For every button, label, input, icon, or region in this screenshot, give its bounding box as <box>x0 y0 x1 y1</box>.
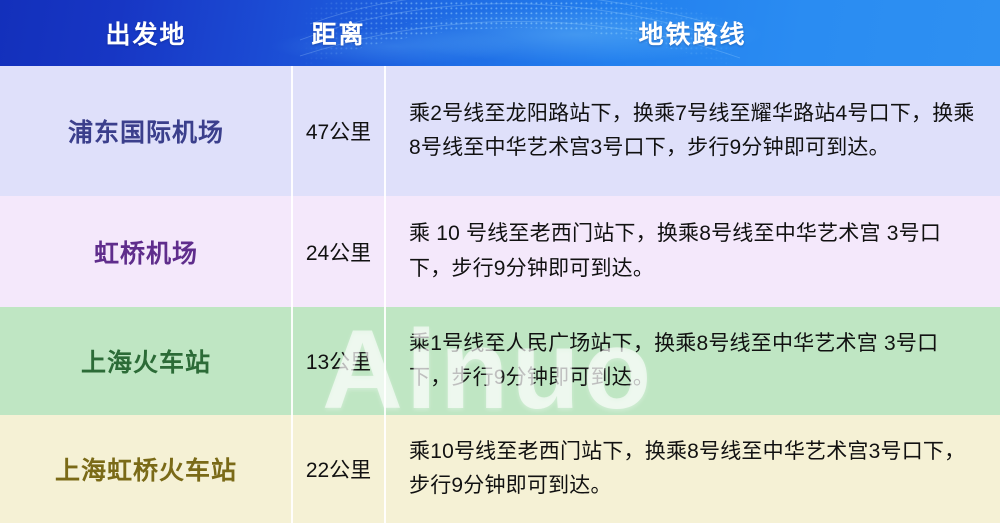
subway-route-table: 出发地 距离 地铁路线 浦东国际机场47公里乘2号线至龙阳路站下，换乘7号线至耀… <box>0 0 1000 523</box>
cell-origin: 上海虹桥火车站 <box>0 415 292 523</box>
cell-origin: 虹桥机场 <box>0 196 292 307</box>
table-row: 上海虹桥火车站22公里乘10号线至老西门站下，换乘8号线至中华艺术宫3号口下，步… <box>0 415 1000 523</box>
cell-route: 乘10号线至老西门站下，换乘8号线至中华艺术宫3号口下，步行9分钟即可到达。 <box>385 415 1000 523</box>
table-header: 出发地 距离 地铁路线 <box>0 0 1000 66</box>
table-body: 浦东国际机场47公里乘2号线至龙阳路站下，换乘7号线至耀华路站4号口下，换乘8号… <box>0 66 1000 523</box>
cell-route: 乘1号线至人民广场站下，换乘8号线至中华艺术宫 3号口下，步行9分钟即可到达。 <box>385 307 1000 415</box>
table-row: 浦东国际机场47公里乘2号线至龙阳路站下，换乘7号线至耀华路站4号口下，换乘8号… <box>0 66 1000 196</box>
table-row: 上海火车站13公里乘1号线至人民广场站下，换乘8号线至中华艺术宫 3号口下，步行… <box>0 307 1000 415</box>
cell-distance: 47公里 <box>292 66 385 196</box>
cell-origin: 上海火车站 <box>0 307 292 415</box>
cell-distance: 24公里 <box>292 196 385 307</box>
cell-origin: 浦东国际机场 <box>0 66 292 196</box>
column-header-route: 地铁路线 <box>385 15 1000 51</box>
cell-distance: 22公里 <box>292 415 385 523</box>
column-header-distance: 距离 <box>292 15 385 51</box>
column-header-origin: 出发地 <box>0 15 292 51</box>
table-row: 虹桥机场24公里乘 10 号线至老西门站下，换乘8号线至中华艺术宫 3号口下，步… <box>0 196 1000 307</box>
cell-route: 乘 10 号线至老西门站下，换乘8号线至中华艺术宫 3号口下，步行9分钟即可到达… <box>385 196 1000 307</box>
table-rows: 浦东国际机场47公里乘2号线至龙阳路站下，换乘7号线至耀华路站4号口下，换乘8号… <box>0 66 1000 523</box>
cell-distance: 13公里 <box>292 307 385 415</box>
cell-route: 乘2号线至龙阳路站下，换乘7号线至耀华路站4号口下，换乘8号线至中华艺术宫3号口… <box>385 66 1000 196</box>
